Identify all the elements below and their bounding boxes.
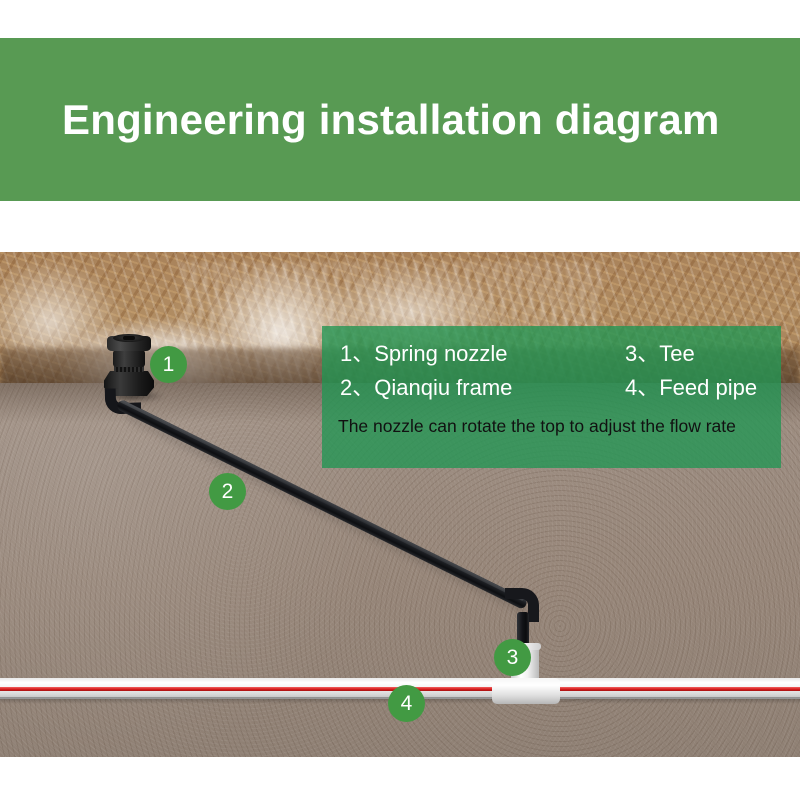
- legend-box: 1、Spring nozzle 3、Tee 2、Qianqiu frame 4、…: [322, 326, 781, 468]
- page-title: Engineering installation diagram: [62, 96, 720, 144]
- page-root: Engineering installation diagram 1、Sprin…: [0, 0, 800, 800]
- badge-4: 4: [388, 685, 425, 722]
- pvc-tee-fitting: [492, 678, 560, 704]
- legend-item-4: 4、Feed pipe: [625, 372, 781, 404]
- nozzle-cap-slot: [123, 336, 135, 340]
- legend-item-1: 1、Spring nozzle: [340, 338, 625, 370]
- badge-3: 3: [494, 639, 531, 676]
- legend-items-grid: 1、Spring nozzle 3、Tee 2、Qianqiu frame 4、…: [322, 338, 781, 404]
- badge-1: 1: [150, 346, 187, 383]
- badge-2: 2: [209, 473, 246, 510]
- header-banner: Engineering installation diagram: [0, 38, 800, 201]
- nozzle-neck: [113, 350, 145, 367]
- legend-item-3: 3、Tee: [625, 338, 781, 370]
- legend-item-2: 2、Qianqiu frame: [340, 372, 625, 404]
- legend-note: The nozzle can rotate the top to adjust …: [338, 414, 781, 438]
- footer-whitespace: [0, 757, 800, 800]
